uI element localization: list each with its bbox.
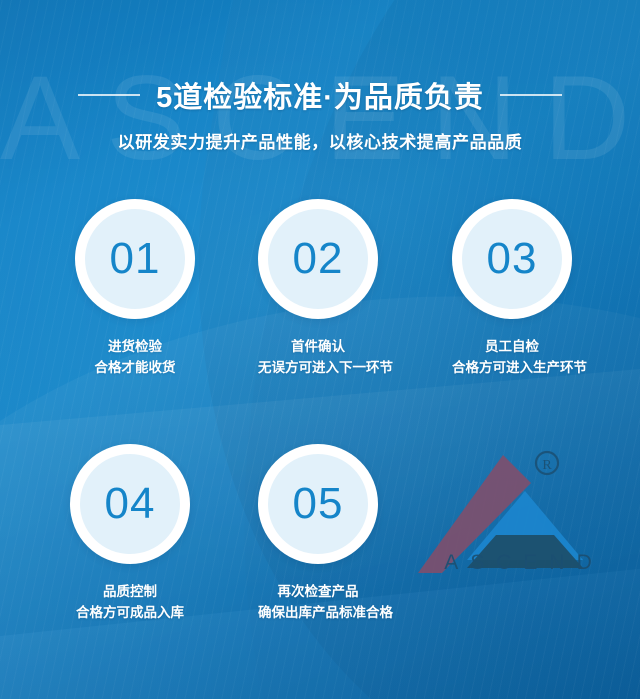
step-number-04: 04 [105,482,156,526]
step-bubble-05: 05 [258,444,378,564]
step-caption-line2-04: 合格方可成品入库 [70,603,190,624]
step-item-02: 02 首件确认 无误方可进入下一环节 [258,199,378,379]
title-rule-left-icon [78,94,140,96]
step-caption-line2-05: 确保出库产品标准合格 [258,603,378,624]
registered-trademark-icon: R [542,458,552,473]
step-bubble-01: 01 [75,199,195,319]
step-item-01: 01 进货检验 合格才能收货 [75,199,195,379]
step-item-04: 04 品质控制 合格方可成品入库 [70,444,190,624]
step-caption-01: 进货检验 合格才能收货 [75,337,195,379]
step-caption-line2-02: 无误方可进入下一环节 [258,358,378,379]
step-bubble-inner-05: 05 [268,454,368,554]
promo-banner: ASCEND 5道检验标准·为品质负责 以研发实力提升产品性能，以核心技术提高产… [0,0,640,699]
step-bubble-inner-02: 02 [268,209,368,309]
step-bubble-inner-01: 01 [85,209,185,309]
step-caption-line1-03: 员工自检 [452,337,572,358]
step-bubble-03: 03 [452,199,572,319]
step-item-05: 05 再次检查产品 确保出库产品标准合格 [258,444,378,624]
step-caption-02: 首件确认 无误方可进入下一环节 [258,337,378,379]
brand-logo: R ASCEND [418,443,618,593]
title-rule-right-icon [500,94,562,96]
step-number-03: 03 [487,237,538,281]
step-caption-line1-01: 进货检验 [75,337,195,358]
step-bubble-02: 02 [258,199,378,319]
step-caption-line2-01: 合格才能收货 [75,358,195,379]
step-caption-03: 员工自检 合格方可进入生产环节 [452,337,572,379]
page-subtitle: 以研发实力提升产品性能，以核心技术提高产品品质 [0,128,640,153]
step-caption-line1-05: 再次检查产品 [258,582,378,603]
step-bubble-04: 04 [70,444,190,564]
step-number-05: 05 [293,482,344,526]
step-bubble-inner-03: 03 [462,209,562,309]
step-number-02: 02 [293,237,344,281]
step-caption-04: 品质控制 合格方可成品入库 [70,582,190,624]
step-caption-line1-02: 首件确认 [258,337,378,358]
title-row: 5道检验标准·为品质负责 [0,74,640,116]
step-bubble-inner-04: 04 [80,454,180,554]
step-caption-05: 再次检查产品 确保出库产品标准合格 [258,582,378,624]
page-title: 5道检验标准·为品质负责 [156,74,484,116]
step-caption-line1-04: 品质控制 [70,582,190,603]
brand-wordmark: ASCEND [420,551,616,575]
step-number-01: 01 [110,237,161,281]
step-item-03: 03 员工自检 合格方可进入生产环节 [452,199,572,379]
step-caption-line2-03: 合格方可进入生产环节 [452,358,572,379]
